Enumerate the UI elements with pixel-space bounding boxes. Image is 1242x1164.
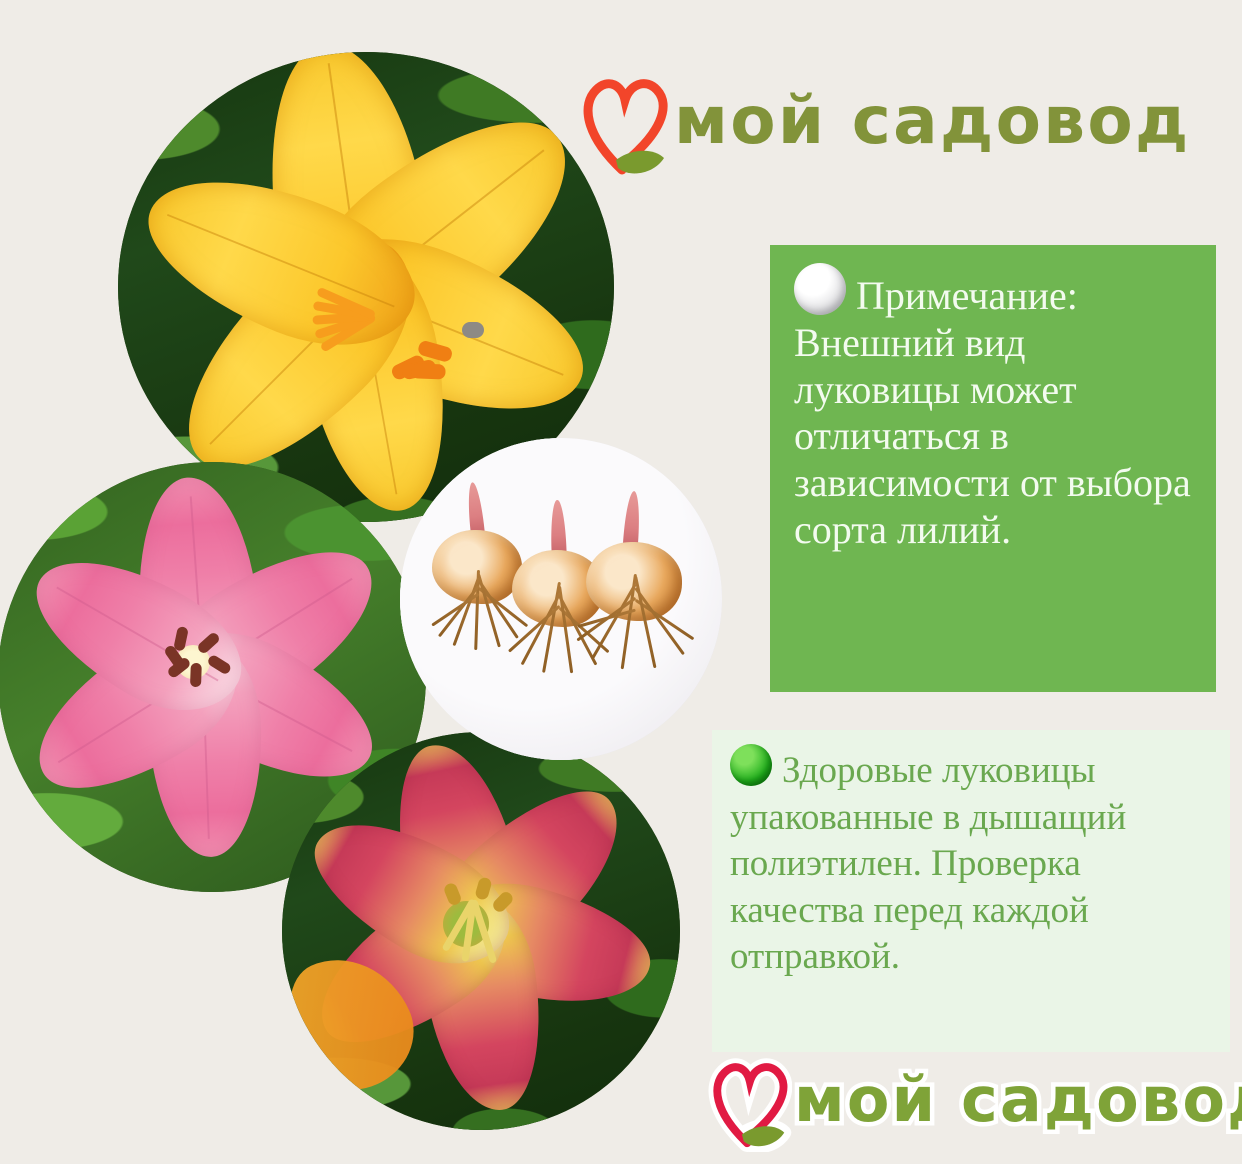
brand-wordmark: мой садовод [794,1069,1242,1131]
yellow-lily-bloom [138,90,584,494]
brand-wordmark: мой садовод [674,88,1191,154]
quality-panel-content: Здоровые луковицы упакованные в дышащий … [730,750,1126,977]
poster-canvas: мой садовод Примечание: Внешний вид луко… [0,0,1242,1164]
photo-bicolor-lily[interactable] [282,732,680,1130]
note-panel-content: Примечание: Внешний вид луковицы может о… [794,273,1191,552]
bulb-item [432,530,522,650]
brand-logo-bottom[interactable]: мой садовод [706,1048,1242,1152]
photo-lily-bulbs[interactable] [400,438,722,760]
note-panel-text: Примечание: Внешний вид луковицы может о… [794,263,1194,554]
quality-panel-text: Здоровые луковицы упакованные в дышащий … [730,744,1220,981]
heart-leaf-mark [576,62,672,180]
bulb-item [586,542,682,670]
brand-logo-top[interactable]: мой садовод [576,62,1191,180]
leaf-icon [616,151,664,174]
white-circle-bullet-icon [794,263,846,315]
note-panel: Примечание: Внешний вид луковицы может о… [770,245,1216,692]
green-circle-bullet-icon [730,744,772,786]
quality-panel: Здоровые луковицы упакованные в дышащий … [712,730,1230,1052]
heart-leaf-mark [706,1048,792,1152]
